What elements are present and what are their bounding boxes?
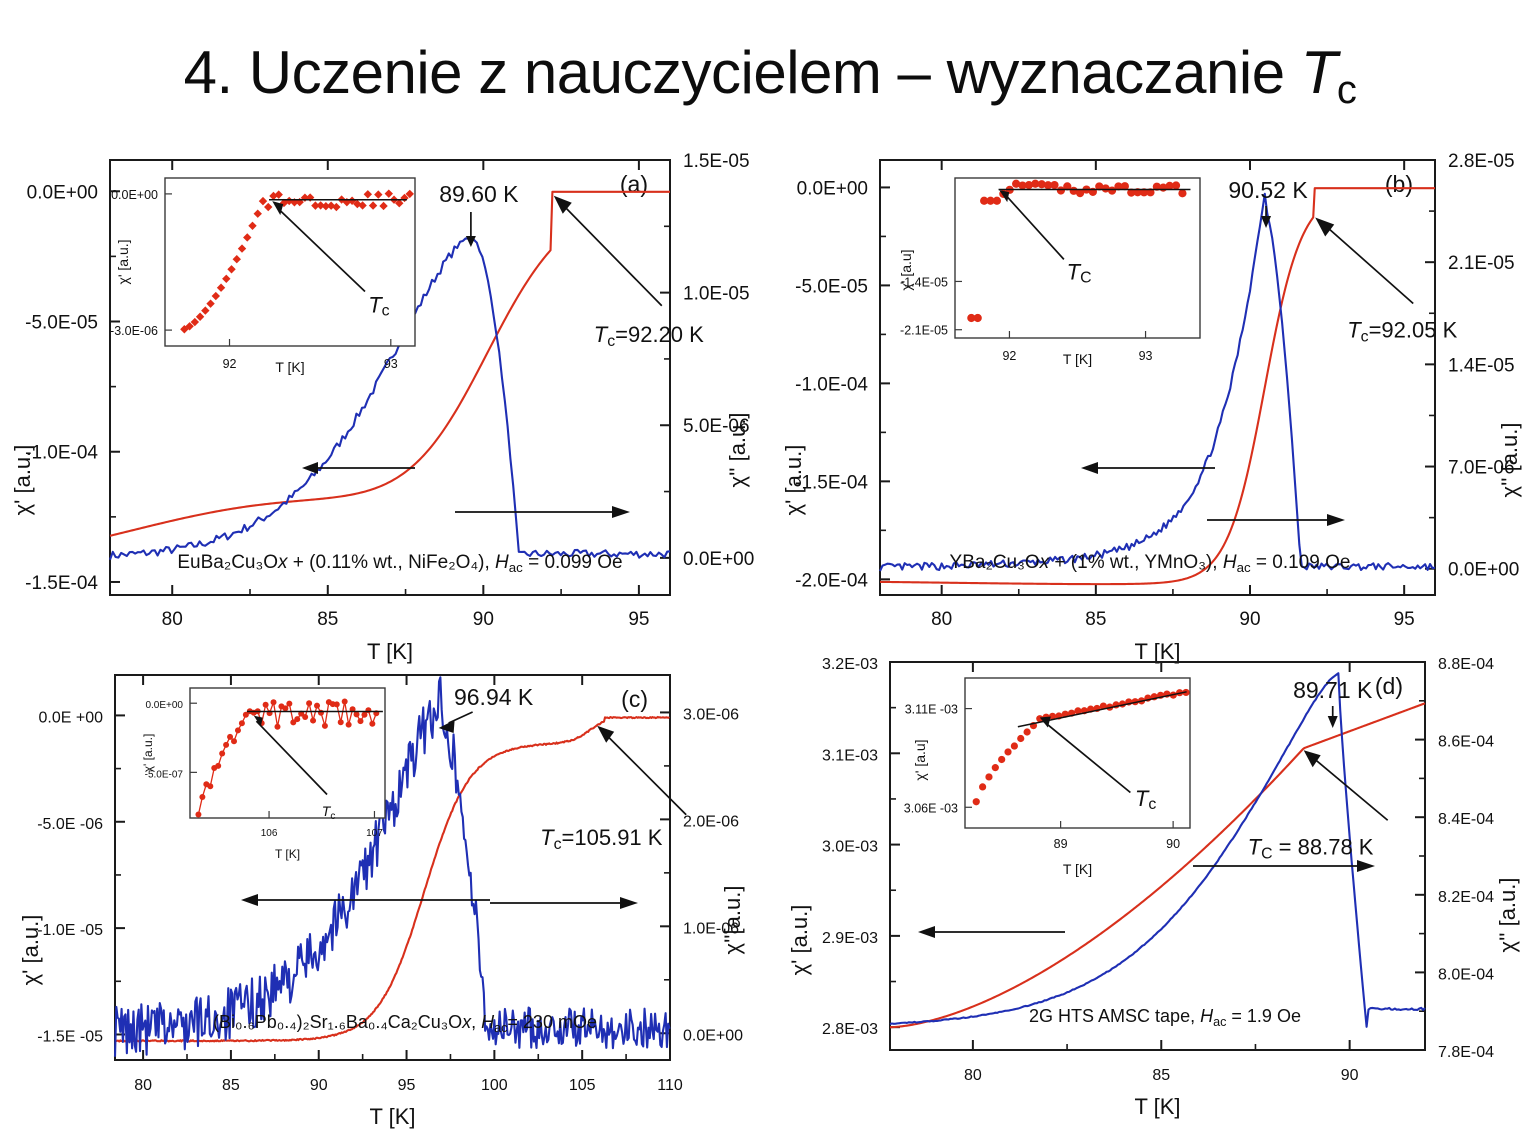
- y-tick-label-left: -1.0E -05: [37, 922, 103, 939]
- right-axis-pointer-head: [612, 506, 630, 518]
- chart-panel-a: 808590950.0E+00-5.0E-05-1.0E-04-1.5E-041…: [0, 150, 775, 650]
- inset-y-axis-label: χ' [a.u.]: [141, 734, 155, 773]
- inset-data-point: [1178, 189, 1186, 197]
- x-tick-label: 95: [1394, 609, 1415, 630]
- y-tick-label-right: 8.2E-04: [1438, 889, 1494, 906]
- y-tick-label-left: -1.0E-04: [795, 374, 868, 395]
- inset-data-point: [357, 718, 363, 724]
- inset-data-point: [263, 702, 269, 708]
- peak-temperature-label: 89.71 K: [1293, 677, 1373, 703]
- inset-y-tick-label: 3.11E -03: [905, 703, 958, 717]
- chart-panel-d: 8085903.2E-033.1E-033.0E-032.9E-032.8E-0…: [775, 650, 1540, 1135]
- inset-data-point: [369, 721, 375, 727]
- y-axis-label-left: χ' [a.u.]: [781, 445, 806, 516]
- inset-x-axis-label: T [K]: [275, 847, 300, 861]
- inset-data-point: [195, 812, 201, 818]
- tc-arrow: [1325, 225, 1413, 303]
- inset-data-point: [282, 705, 288, 711]
- inset-data-point: [1017, 735, 1024, 742]
- y-tick-label-right: 1.0E-05: [683, 284, 750, 305]
- tc-arrow: [606, 735, 686, 815]
- right-axis-pointer-head: [1357, 860, 1375, 872]
- y-tick-label-left: -2.0E-04: [795, 570, 868, 591]
- x-tick-label: 85: [1152, 1067, 1170, 1084]
- tc-annotation-label: Tc=92.20 K: [594, 322, 704, 350]
- tc-arrow-head: [1315, 217, 1334, 236]
- chart-a: 808590950.0E+00-5.0E-05-1.0E-04-1.5E-041…: [0, 150, 775, 650]
- inset-data-point: [231, 738, 237, 744]
- tc-annotation-label: Tc=105.91 K: [540, 825, 663, 853]
- panel-id-label: (d): [1375, 673, 1403, 699]
- y-tick-label-left: -1.5E-04: [25, 573, 98, 594]
- inset-data-point: [998, 756, 1005, 763]
- tc-arrow-head: [1304, 750, 1321, 767]
- inset-plot: 92930.0E+00-3.0E-06T [K]χ' [a.u.]Tc: [110, 178, 415, 375]
- sample-caption: YBa₂Cu₃Ox + (1% wt., YMnO₃), Hac = 0.109…: [950, 552, 1351, 575]
- inset-x-axis-label: T [K]: [1063, 861, 1092, 877]
- x-tick-label: 80: [964, 1067, 982, 1084]
- left-axis-pointer-head: [1081, 462, 1098, 474]
- inset-y-tick-label: 3.06E -03: [904, 801, 958, 815]
- y-tick-label-left: 0.0E +00: [39, 709, 104, 726]
- tc-annotation-label: TC = 88.78 K: [1248, 834, 1374, 862]
- inset-data-point: [318, 710, 324, 716]
- inset-data-point: [306, 700, 312, 706]
- inset-x-tick-label: 92: [1002, 349, 1016, 363]
- inset-data-point: [1050, 181, 1058, 189]
- x-tick-label: 105: [569, 1077, 596, 1094]
- inset-data-point: [223, 742, 229, 748]
- x-tick-label: 85: [222, 1077, 240, 1094]
- inset-x-tick-label: 106: [261, 828, 278, 839]
- inset-data-point: [993, 197, 1001, 205]
- x-tick-label: 90: [473, 609, 494, 630]
- x-tick-label: 95: [398, 1077, 416, 1094]
- y-tick-label-left: 3.0E-03: [822, 839, 878, 856]
- inset-x-tick-label: 90: [1166, 837, 1180, 851]
- inset-x-tick-label: 92: [223, 357, 237, 371]
- y-tick-label-right: 0.0E+00: [1448, 560, 1519, 581]
- sample-caption: EuBa₂Cu₃Ox + (0.11% wt., NiFe₂O₄), Hac =…: [177, 552, 622, 575]
- inset-y-axis-label: χ' [a.u.]: [115, 239, 131, 284]
- inset-x-axis-label: T [K]: [1063, 351, 1092, 367]
- y-tick-label-right: 8.0E-04: [1438, 966, 1494, 983]
- y-tick-label-left: -5.0E-05: [25, 312, 98, 333]
- inset-data-point: [1172, 181, 1180, 189]
- inset-data-point: [239, 720, 245, 726]
- x-tick-label: 80: [162, 609, 183, 630]
- inset-data-point: [974, 314, 982, 322]
- inset-data-point: [361, 712, 367, 718]
- inset-data-point: [354, 711, 360, 717]
- y-tick-label-right: 0.0E+00: [683, 549, 754, 570]
- inset-data-point: [334, 701, 340, 707]
- y-tick-label-right: 2.0E-06: [683, 813, 739, 830]
- y-tick-label-left: 2.9E-03: [822, 930, 878, 947]
- y-tick-label-left: -1.0E-04: [25, 443, 98, 464]
- y-tick-label-right: 1.5E-05: [683, 151, 750, 172]
- sample-caption: (Bi₀.₆Pb₀.₄)₂Sr₁.₆Ba₀.₄Ca₂Cu₃Ox, Hac= 23…: [213, 1012, 597, 1035]
- tc-arrow: [1314, 758, 1388, 820]
- chart-panel-c: 808590951001051100.0E +00-5.0E -06-1.0E …: [0, 650, 775, 1135]
- chart-c: 808590951001051100.0E +00-5.0E -06-1.0E …: [0, 650, 775, 1135]
- y-tick-label-left: 3.1E-03: [822, 747, 878, 764]
- y-axis-label-left: χ' [a.u.]: [787, 905, 812, 976]
- inset-data-point: [235, 727, 241, 733]
- inset-x-tick-label: 89: [1054, 837, 1068, 851]
- inset-data-point: [302, 714, 308, 720]
- y-tick-label-right: 8.6E-04: [1438, 734, 1494, 751]
- inset-data-point: [365, 707, 371, 713]
- x-tick-label: 110: [657, 1077, 683, 1094]
- inset-data-point: [314, 703, 320, 709]
- inset-plot: 89903.11E -033.06E -03T [K]χ' [a.u]Tc: [904, 678, 1190, 877]
- x-tick-label: 90: [1239, 609, 1260, 630]
- inset-data-point: [979, 783, 986, 790]
- peak-arrow-head: [1328, 716, 1338, 728]
- x-tick-label: 80: [931, 609, 952, 630]
- y-axis-label-right: χ'' [a.u.]: [1497, 423, 1522, 498]
- peak-temperature-label: 89.60 K: [439, 181, 519, 207]
- x-axis-label: T [K]: [369, 1104, 415, 1129]
- y-tick-label-right: 2.1E-05: [1448, 253, 1515, 274]
- inset-data-point: [215, 763, 221, 769]
- x-axis-label: T [K]: [1134, 1094, 1180, 1119]
- left-axis-pointer-head: [918, 926, 935, 938]
- inset-plot: 1061070.0E+00-5.0E-07T [K]χ' [a.u.]Tc: [141, 688, 385, 861]
- page-title: 4. Uczenie z nauczycielem – wyznaczanie …: [0, 38, 1540, 107]
- inset-data-point: [1011, 742, 1018, 749]
- inset-y-tick-label: -2.1E-05: [900, 324, 948, 338]
- inset-data-point: [207, 783, 213, 789]
- inset-data-point: [286, 701, 292, 707]
- chart-panel-b: 808590950.0E+00-5.0E-05-1.0E-04-1.5E-04-…: [775, 150, 1540, 650]
- y-tick-label-left: -1.5E -05: [37, 1028, 103, 1045]
- page-title-symbol-subscript: c: [1337, 68, 1357, 112]
- peak-temperature-label: 96.94 K: [454, 684, 534, 710]
- inset-data-point: [1024, 728, 1031, 735]
- y-tick-label-left: 2.8E-03: [822, 1021, 878, 1038]
- y-axis-label-right: χ'' [a.u.]: [1495, 878, 1520, 953]
- chart-d: 8085903.2E-033.1E-033.0E-032.9E-032.8E-0…: [775, 650, 1540, 1135]
- peak-temperature-label: 90.52 K: [1228, 177, 1308, 203]
- inset-y-tick-label: -3.0E-06: [110, 324, 158, 338]
- inset-x-tick-label: 93: [384, 357, 398, 371]
- y-axis-label-left: χ' [a.u.]: [18, 915, 43, 986]
- y-tick-label-right: 7.8E-04: [1438, 1044, 1494, 1061]
- x-tick-label: 80: [134, 1077, 152, 1094]
- x-tick-label: 90: [1341, 1067, 1359, 1084]
- inset-y-axis-label: χ' [a.u]: [898, 249, 914, 290]
- y-axis-label-right: χ'' [a.u.]: [725, 413, 750, 488]
- panel-id-label: (b): [1385, 171, 1413, 197]
- inset-data-point: [294, 716, 300, 722]
- x-tick-label: 100: [481, 1077, 508, 1094]
- inset-x-tick-label: 107: [366, 828, 383, 839]
- inset-y-axis-label: χ' [a.u]: [912, 739, 928, 780]
- x-tick-label: 95: [628, 609, 649, 630]
- inset-plot: 9293-1.4E-05-2.1E-05T [K]χ' [a.u]TC: [898, 178, 1200, 367]
- inset-data-point: [274, 724, 280, 730]
- y-axis-label-right: χ''[a.u.]: [720, 886, 745, 955]
- chart-b: 808590950.0E+00-5.0E-05-1.0E-04-1.5E-04-…: [775, 150, 1540, 650]
- inset-data-point: [310, 718, 316, 724]
- tc-annotation-label: Tc=92.05 K: [1347, 317, 1457, 345]
- y-tick-label-left: -5.0E -06: [37, 816, 103, 833]
- x-tick-label: 90: [310, 1077, 328, 1094]
- page-title-text: 4. Uczenie z nauczycielem – wyznaczanie: [184, 39, 1301, 106]
- page-title-symbol: T: [1301, 39, 1337, 106]
- y-tick-label-left: 0.0E+00: [797, 178, 868, 199]
- x-tick-label: 85: [317, 609, 338, 630]
- inset-data-point: [271, 699, 277, 705]
- inset-data-point: [342, 699, 348, 705]
- y-tick-label-left: 3.2E-03: [822, 656, 878, 673]
- inset-data-point: [338, 719, 344, 725]
- right-axis-pointer-head: [1327, 514, 1345, 526]
- y-tick-label-right: 2.8E-05: [1448, 151, 1515, 172]
- slide-root: 4. Uczenie z nauczycielem – wyznaczanie …: [0, 0, 1540, 1135]
- y-tick-label-left: 0.0E+00: [27, 182, 98, 203]
- inset-data-point: [219, 751, 225, 757]
- y-tick-label-left: -5.0E-05: [795, 276, 868, 297]
- x-tick-label: 85: [1085, 609, 1106, 630]
- inset-data-point: [199, 794, 205, 800]
- y-axis-label-left: χ' [a.u.]: [10, 445, 35, 516]
- inset-y-tick-label: 0.0E+00: [145, 700, 183, 711]
- inset-data-point: [973, 798, 980, 805]
- sample-caption: 2G HTS AMSC tape, Hac = 1.9 Oe: [1029, 1006, 1301, 1029]
- y-tick-label-right: 8.8E-04: [1438, 656, 1494, 673]
- panel-id-label: (c): [621, 686, 648, 712]
- inset-x-tick-label: 93: [1139, 349, 1153, 363]
- inset-x-axis-label: T [K]: [275, 359, 304, 375]
- y-tick-label-right: 0.0E+00: [683, 1027, 743, 1044]
- inset-y-tick-label: 0.0E+00: [111, 188, 158, 202]
- tc-arrow: [562, 204, 662, 306]
- inset-data-point: [322, 723, 328, 729]
- panel-id-label: (a): [620, 171, 648, 197]
- inset-data-point: [992, 764, 999, 771]
- y-tick-label-right: 8.4E-04: [1438, 811, 1494, 828]
- y-tick-label-left: -1.5E-04: [795, 472, 868, 493]
- y-tick-label-right: 1.4E-05: [1448, 355, 1515, 376]
- inset-data-point: [346, 722, 352, 728]
- left-axis-pointer-head: [241, 894, 258, 906]
- left-axis-pointer-head: [302, 462, 318, 474]
- right-axis-pointer-head: [620, 897, 638, 909]
- y-tick-label-right: 3.0E-06: [683, 706, 739, 723]
- inset-data-point: [985, 773, 992, 780]
- inset-data-point: [1004, 748, 1011, 755]
